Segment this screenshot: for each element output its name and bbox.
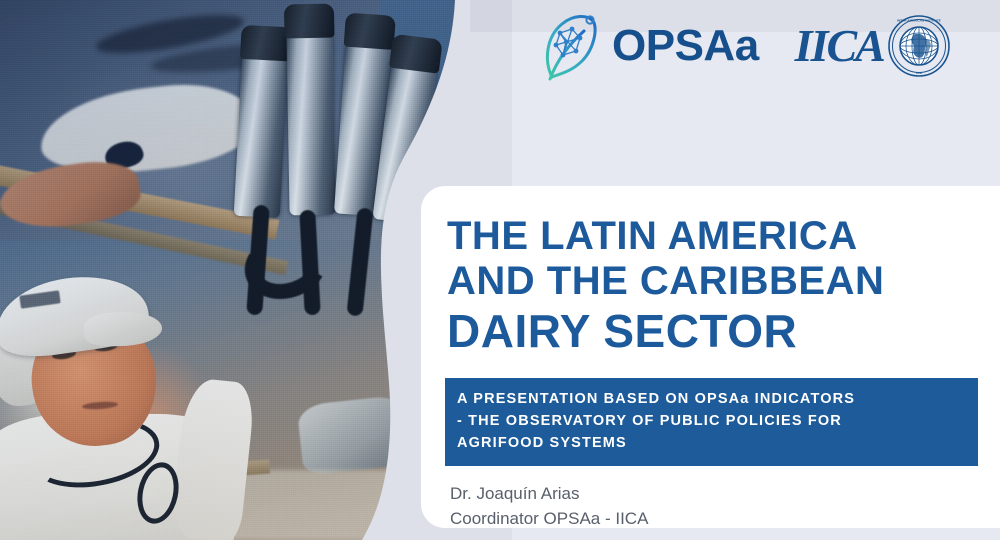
iica-wordmark: IICA bbox=[795, 23, 884, 69]
title-line-1: THE LATIN AMERICA bbox=[447, 214, 987, 259]
title-slide: OPSAa IICA INTER-AMERICAN IN bbox=[0, 0, 1000, 540]
subtitle-line-2: - THE OBSERVATORY OF PUBLIC POLICIES FOR bbox=[457, 410, 966, 432]
iica-globe-seal-icon: INTER-AMERICAN INSTITUTE 1942 bbox=[888, 15, 950, 77]
iica-logo[interactable]: IICA INTER-AMERICAN INSTITUTE 1942 bbox=[795, 15, 950, 77]
svg-text:1942: 1942 bbox=[916, 71, 923, 75]
presenter-name: Dr. Joaquín Arias bbox=[450, 482, 648, 507]
opsaa-wordmark: OPSAa bbox=[612, 24, 759, 68]
page-title: THE LATIN AMERICA AND THE CARIBBEAN DAIR… bbox=[447, 214, 987, 358]
title-line-3: DAIRY SECTOR bbox=[447, 306, 987, 358]
title-line-2: AND THE CARIBBEAN bbox=[447, 259, 987, 304]
presenter-role: Coordinator OPSAa - IICA bbox=[450, 507, 648, 532]
opsaa-logo[interactable]: OPSAa bbox=[540, 11, 759, 81]
subtitle-banner: A PRESENTATION BASED ON OPSAa INDICATORS… bbox=[445, 378, 978, 466]
subtitle-line-3: AGRIFOOD SYSTEMS bbox=[457, 432, 966, 454]
logo-bar: OPSAa IICA INTER-AMERICAN IN bbox=[520, 0, 1000, 92]
presenter-info: Dr. Joaquín Arias Coordinator OPSAa - II… bbox=[450, 482, 648, 531]
svg-text:INTER-AMERICAN INSTITUTE: INTER-AMERICAN INSTITUTE bbox=[897, 19, 941, 23]
opsaa-leaf-network-logo-icon bbox=[540, 11, 602, 81]
subtitle-line-1: A PRESENTATION BASED ON OPSAa INDICATORS bbox=[457, 388, 966, 410]
